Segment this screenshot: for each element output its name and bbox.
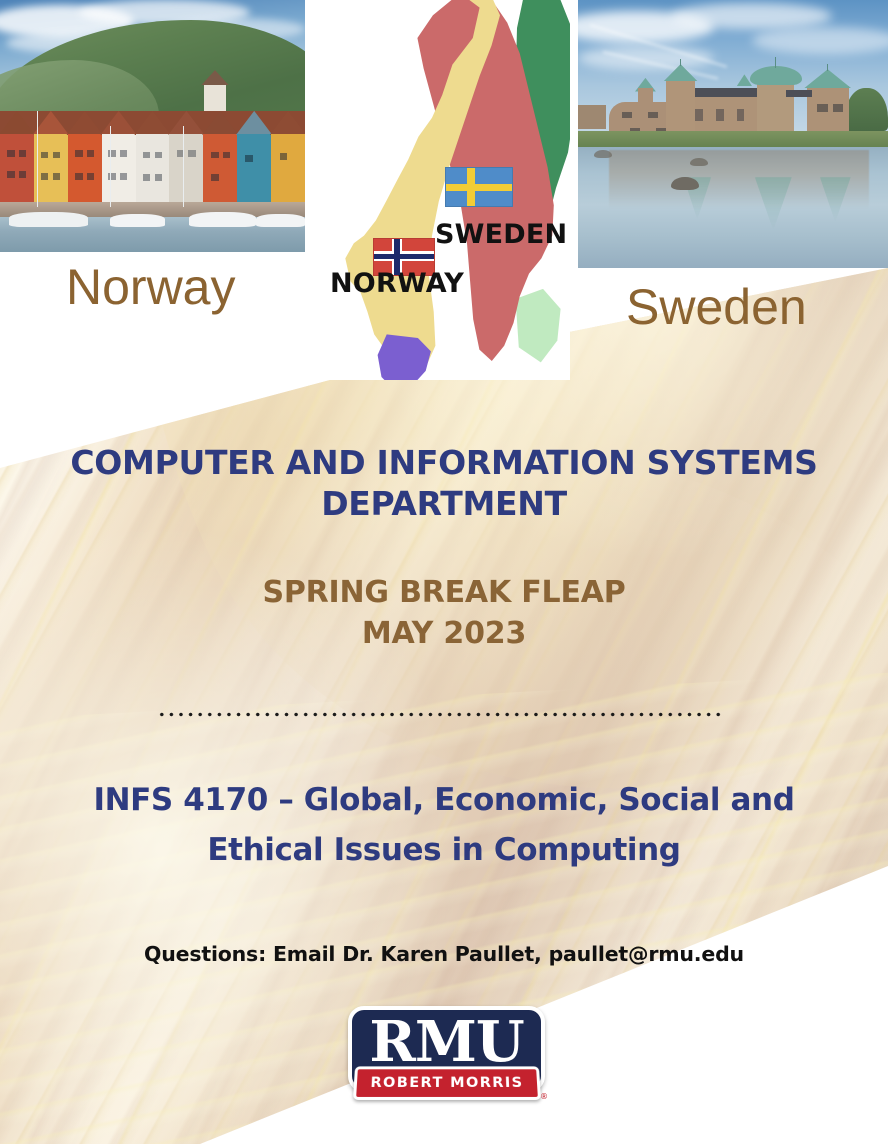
norway-house [68, 134, 102, 210]
norway-house [0, 134, 34, 210]
norway-house-body [34, 134, 68, 210]
event-title: SPRING BREAK FLEAP MAY 2023 [44, 573, 844, 655]
norway-house-body [203, 134, 237, 210]
norway-boat [189, 212, 256, 227]
norway-window [7, 150, 14, 157]
event-title-line-2: MAY 2023 [44, 614, 844, 655]
rmu-ribbon: ROBERT MORRIS [353, 1066, 541, 1100]
norway-house-body [271, 134, 305, 210]
caption-sweden: Sweden [626, 282, 807, 332]
castle-finial [680, 59, 682, 66]
sweden-grass-rampart [578, 131, 888, 148]
norway-house-body [237, 134, 271, 210]
norway-window [41, 152, 48, 159]
norway-window [53, 173, 60, 180]
norway-window [7, 171, 14, 178]
norway-window [87, 173, 94, 180]
norway-window [19, 171, 26, 178]
course-title: INFS 4170 – Global, Economic, Social and… [50, 776, 838, 875]
rmu-initials: RMU [352, 1014, 541, 1070]
norway-house [203, 134, 237, 210]
course-title-line-1: INFS 4170 – Global, Economic, Social and [50, 776, 838, 826]
norway-window [245, 155, 252, 162]
norway-house-body [136, 134, 170, 210]
department-title-line-2: DEPARTMENT [44, 484, 844, 525]
castle-window [833, 104, 843, 113]
castle-window [695, 109, 703, 121]
norway-house-body [169, 134, 203, 210]
norway-window [75, 173, 82, 180]
norway-window [155, 174, 162, 181]
norway-sailboat-mast [183, 126, 184, 207]
sweden-flag-icon [445, 167, 513, 207]
castle-roof [786, 90, 812, 97]
map-label-sweden: SWEDEN [435, 219, 567, 250]
norway-window [53, 152, 60, 159]
norway-boat [9, 212, 88, 227]
rmu-registered-mark: ® [540, 1092, 548, 1101]
castle-finial [775, 57, 777, 67]
norway-window [120, 150, 127, 157]
norway-sailboat-mast [37, 111, 38, 207]
castle-window [716, 109, 724, 121]
castle-window [817, 104, 827, 113]
photo-sweden [578, 0, 888, 268]
contact-line: Questions: Email Dr. Karen Paullet, paul… [44, 942, 844, 966]
norway-house-body [102, 134, 136, 210]
norway-window [143, 174, 150, 181]
course-title-line-2: Ethical Issues in Computing [50, 826, 838, 876]
sweden-rock [671, 177, 699, 190]
rmu-logo: RMU ROBERT MORRIS ® [344, 1004, 549, 1122]
norway-house-body [0, 134, 34, 210]
castle-spire [804, 69, 851, 88]
dotted-divider [157, 711, 723, 718]
sweden-rock [690, 158, 709, 166]
norway-window [188, 150, 195, 157]
norway-house [34, 134, 68, 210]
norway-house [136, 134, 170, 210]
norway-house [271, 134, 305, 210]
rmu-wordmark: ROBERT MORRIS [357, 1076, 538, 1090]
norway-boat [110, 214, 165, 227]
norway-window [155, 152, 162, 159]
norway-sailboat-mast [110, 126, 111, 207]
norway-boat [256, 214, 305, 227]
castle-finial [827, 64, 829, 71]
norway-flag-cross-horizontal [374, 254, 435, 259]
event-title-line-1: SPRING BREAK FLEAP [44, 573, 844, 614]
sweden-cloud [752, 27, 888, 54]
castle-turret [638, 88, 654, 107]
castle-window [737, 109, 745, 121]
norway-window [223, 152, 230, 159]
norway-window [143, 152, 150, 159]
castle-dome [750, 66, 802, 85]
norway-window [87, 150, 94, 157]
norway-house [102, 134, 136, 210]
norway-house [237, 134, 271, 210]
sweden-flag-cross-horizontal [446, 184, 512, 191]
norway-window [19, 150, 26, 157]
norway-window [41, 173, 48, 180]
photo-norway [0, 0, 305, 252]
castle-spire [664, 64, 698, 81]
map-scandinavia: SWEDEN NORWAY [320, 0, 570, 380]
norway-house-row [0, 134, 305, 210]
sweden-outer-wall [578, 105, 606, 129]
norway-house-body [68, 134, 102, 210]
castle-window [622, 112, 632, 118]
norway-window [280, 153, 287, 160]
sweden-rock [594, 150, 613, 158]
department-title: COMPUTER AND INFORMATION SYSTEMS DEPARTM… [44, 443, 844, 525]
norway-window [120, 173, 127, 180]
poster-canvas: SWEDEN NORWAY Norway Sweden COMPUTER AND… [0, 0, 888, 1144]
caption-norway: Norway [66, 262, 235, 312]
department-title-line-1: COMPUTER AND INFORMATION SYSTEMS [44, 443, 844, 484]
norway-house [169, 134, 203, 210]
castle-window [648, 112, 658, 118]
norway-window [75, 150, 82, 157]
norway-window [211, 152, 218, 159]
norway-window [211, 174, 218, 181]
